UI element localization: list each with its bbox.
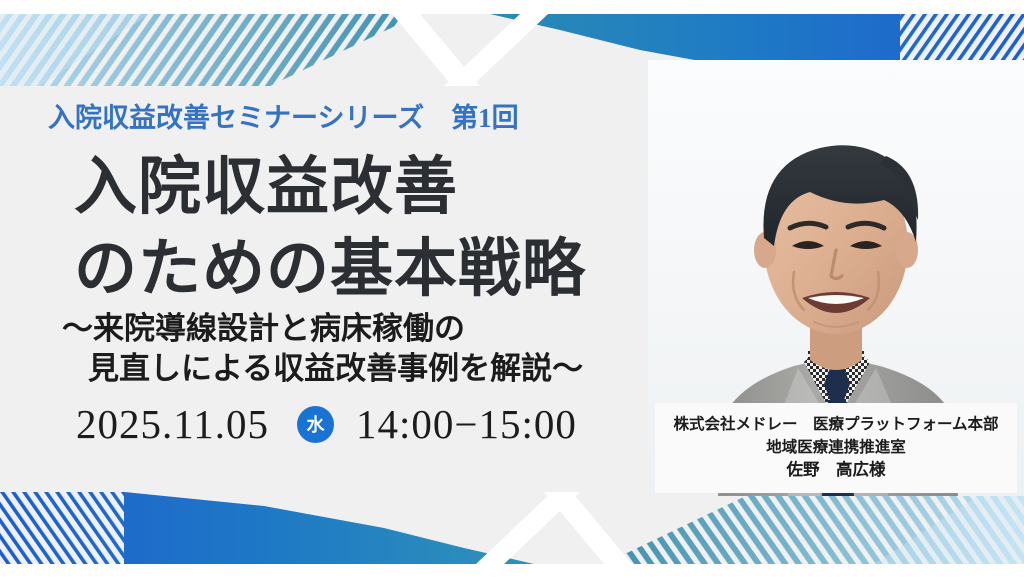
speaker-department: 地域医療連携推進室 bbox=[766, 438, 906, 457]
subtitle-line-1: ～来院導線設計と病床稼働の bbox=[62, 303, 465, 348]
speaker-name: 佐野 高広様 bbox=[787, 460, 886, 481]
speaker-organization: 株式会社メドレー 医療プラットフォーム本部 bbox=[673, 415, 998, 434]
page-title-line-1: 入院収益改善 bbox=[74, 136, 458, 227]
seminar-date: 2025.11.05 bbox=[76, 400, 269, 448]
seminar-time: 14:00−15:00 bbox=[356, 400, 577, 448]
speaker-caption-box: 株式会社メドレー 医療プラットフォーム本部 地域医療連携推進室 佐野 高広様 bbox=[655, 403, 1017, 493]
seminar-banner: 株式会社メドレー 医療プラットフォーム本部 地域医療連携推進室 佐野 高広様 入… bbox=[0, 0, 1024, 578]
top-edge-strip bbox=[0, 0, 1024, 14]
bottom-edge-strip bbox=[0, 564, 1024, 578]
series-label: 入院収益改善セミナーシリーズ 第1回 bbox=[48, 96, 519, 135]
weekday-badge: 水 bbox=[297, 406, 334, 443]
page-title-line-2: のための基本戦略 bbox=[74, 218, 586, 309]
schedule-row: 2025.11.05 水 14:00−15:00 bbox=[76, 398, 577, 450]
banner-text-content: 入院収益改善セミナーシリーズ 第1回 入院収益改善 のための基本戦略 ～来院導線… bbox=[0, 0, 660, 578]
subtitle-line-2: 見直しによる収益改善事例を解説～ bbox=[88, 343, 583, 388]
